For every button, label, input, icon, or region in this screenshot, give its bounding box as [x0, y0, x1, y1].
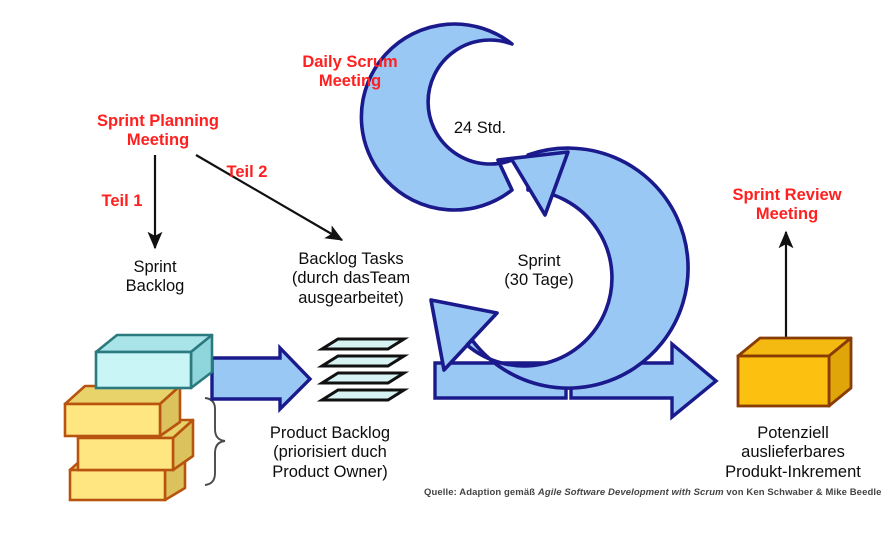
label-daily-scrum-meeting: Daily Scrum Meeting [276, 53, 424, 92]
label-product-increment: Potenziell auslieferbares Produkt-Inkrem… [695, 424, 885, 482]
label-teil1: Teil 1 [90, 192, 154, 211]
label-backlog-tasks: Backlog Tasks (durch dasTeam ausgearbeit… [258, 250, 444, 308]
label-sprint-review-meeting: Sprint Review Meeting [710, 186, 864, 225]
sprint-backlog-box [96, 335, 212, 388]
source-citation: Quelle: Adaption gemäß Agile Software De… [424, 487, 874, 498]
backlog-tasks-document-stack [322, 339, 404, 400]
source-suffix: von Ken Schwaber & Mike Beedle [724, 487, 882, 498]
source-prefix: Quelle: Adaption gemäß [424, 487, 538, 498]
product-increment-box [738, 338, 851, 406]
label-product-backlog: Product Backlog (priorisiert duch Produc… [230, 424, 430, 482]
label-sprint-backlog: Sprint Backlog [96, 258, 214, 297]
scrum-process-diagram: Sprint Planning Meeting Teil 1 Teil 2 Da… [0, 0, 885, 543]
label-sprint-duration: Sprint (30 Tage) [473, 252, 605, 291]
product-backlog-box-1 [65, 386, 180, 436]
label-cycle-24h: 24 Std. [427, 119, 533, 138]
product-backlog-brace [205, 398, 225, 485]
label-teil2: Teil 2 [215, 163, 279, 182]
arrow-backlog-to-tasks [212, 348, 310, 409]
source-book-title: Agile Software Development with Scrum [538, 487, 724, 498]
label-sprint-planning-meeting: Sprint Planning Meeting [78, 112, 238, 151]
